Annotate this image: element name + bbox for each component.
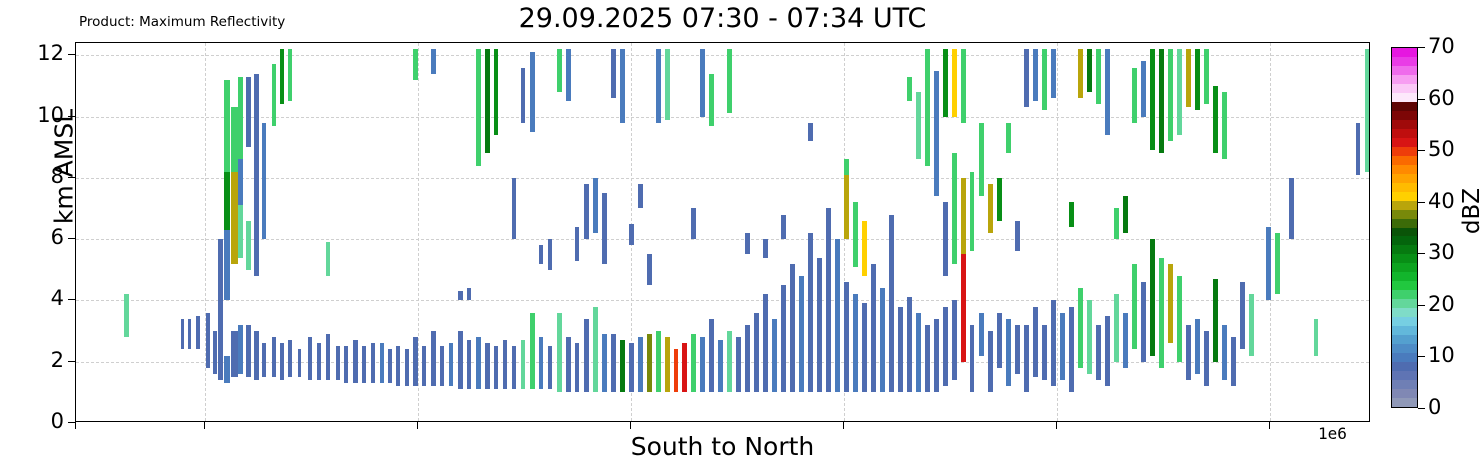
colorbar-tick-mark (1418, 253, 1425, 254)
reflectivity-segment (224, 356, 230, 384)
y-tick-mark (68, 361, 75, 362)
reflectivity-segment (1096, 325, 1101, 380)
colorbar-tick-mark (1418, 356, 1425, 357)
reflectivity-segment (871, 264, 876, 393)
reflectivity-segment (1105, 316, 1110, 386)
reflectivity-segment (548, 346, 552, 389)
colorbar-gradient (1391, 47, 1418, 408)
reflectivity-segment (1222, 325, 1227, 380)
reflectivity-segment (231, 331, 238, 377)
reflectivity-segment (503, 340, 507, 389)
reflectivity-segment (566, 337, 571, 392)
reflectivity-segment (1275, 233, 1280, 294)
reflectivity-segment (611, 49, 616, 98)
reflectivity-segment (485, 49, 490, 153)
reflectivity-segment (1132, 264, 1137, 350)
reflectivity-segment (961, 178, 966, 255)
reflectivity-segment (326, 242, 330, 276)
reflectivity-segment (853, 294, 858, 392)
reflectivity-segment (188, 319, 191, 350)
colorbar-segment (1392, 164, 1417, 174)
reflectivity-segment (620, 49, 625, 123)
reflectivity-segment (431, 331, 436, 386)
reflectivity-segment (979, 123, 984, 197)
reflectivity-segment (826, 208, 831, 392)
reflectivity-segment (548, 239, 552, 270)
colorbar-segment (1392, 236, 1417, 246)
colorbar-tick-label: 30 (1428, 242, 1455, 263)
reflectivity-segment (988, 184, 993, 233)
colorbar-tick-label: 0 (1428, 397, 1441, 418)
reflectivity-segment (557, 49, 562, 92)
reflectivity-segment (1051, 49, 1056, 98)
colorbar-segment (1392, 128, 1417, 138)
reflectivity-segment (1087, 300, 1092, 374)
reflectivity-segment (413, 337, 418, 386)
reflectivity-segment (943, 202, 948, 276)
x-axis-offset-label: 1e6 (1318, 424, 1347, 443)
reflectivity-segment (584, 319, 589, 393)
reflectivity-segment (665, 49, 670, 119)
colorbar-segment (1392, 110, 1417, 120)
reflectivity-segment (1240, 282, 1245, 349)
reflectivity-segment (262, 343, 266, 377)
reflectivity-segment (521, 340, 525, 389)
reflectivity-segment (898, 307, 903, 393)
colorbar-segment (1392, 119, 1417, 129)
reflectivity-segment (970, 325, 974, 392)
reflectivity-segment (916, 313, 921, 393)
reflectivity-segment (224, 172, 230, 230)
colorbar-segment (1392, 146, 1417, 156)
colorbar-tick-mark (1418, 202, 1425, 203)
reflectivity-segment (254, 166, 259, 276)
reflectivity-segment (629, 343, 634, 392)
reflectivity-segment (371, 343, 375, 383)
reflectivity-segment (593, 178, 598, 233)
plot-area (75, 42, 1370, 422)
reflectivity-segment (1150, 49, 1155, 150)
reflectivity-segment (494, 49, 498, 135)
colorbar-segment (1392, 191, 1417, 201)
reflectivity-segment (674, 349, 678, 392)
reflectivity-segment (254, 331, 259, 380)
reflectivity-segment (512, 178, 516, 239)
colorbar-segment (1392, 173, 1417, 183)
reflectivity-segment (844, 175, 849, 239)
reflectivity-segment (1186, 325, 1191, 380)
reflectivity-segment (1177, 49, 1182, 135)
x-tick-mark (417, 422, 418, 429)
reflectivity-segment (206, 313, 210, 368)
reflectivity-segment (629, 224, 634, 245)
colorbar-segment (1392, 245, 1417, 255)
reflectivity-segment (880, 288, 885, 392)
reflectivity-segment (988, 331, 993, 392)
reflectivity-segment (1006, 319, 1011, 386)
reflectivity-segment (272, 64, 276, 125)
colorbar-segment (1392, 101, 1417, 111)
reflectivity-segment (539, 337, 543, 389)
reflectivity-segment (124, 294, 129, 337)
y-tick-label: 2 (24, 350, 64, 371)
reflectivity-segment (727, 331, 732, 392)
reflectivity-segment (512, 346, 516, 389)
reflectivity-segment (467, 340, 471, 389)
reflectivity-segment (997, 178, 1002, 221)
colorbar-segment (1392, 254, 1417, 264)
colorbar-segment (1392, 280, 1417, 290)
x-tick-mark (204, 422, 205, 429)
colorbar-segment (1392, 74, 1417, 84)
reflectivity-segment (647, 254, 652, 285)
colorbar (1391, 47, 1418, 408)
reflectivity-segment (952, 300, 957, 380)
reflectivity-segment (1042, 325, 1047, 380)
y-tick-label: 6 (24, 227, 64, 248)
reflectivity-segment (844, 159, 849, 174)
colorbar-segment (1392, 65, 1417, 75)
reflectivity-segment (521, 68, 525, 123)
reflectivity-segment (835, 239, 840, 392)
reflectivity-segment (1078, 49, 1083, 98)
reflectivity-segment (997, 313, 1002, 368)
reflectivity-segment (745, 325, 750, 392)
colorbar-segment (1392, 92, 1417, 102)
reflectivity-segment (1033, 49, 1038, 101)
reflectivity-segment (246, 77, 251, 147)
colorbar-tick-mark (1418, 408, 1425, 409)
reflectivity-segment (1159, 49, 1164, 153)
colorbar-segment (1392, 289, 1417, 299)
reflectivity-segment (238, 159, 243, 205)
reflectivity-segment (1141, 282, 1146, 362)
reflectivity-segment (467, 288, 471, 300)
reflectivity-segment (979, 313, 984, 356)
reflectivity-segment (288, 49, 292, 101)
reflectivity-segment (1132, 68, 1137, 123)
reflectivity-segment (431, 49, 436, 74)
reflectivity-segment (262, 123, 266, 239)
colorbar-tick-mark (1418, 150, 1425, 151)
reflectivity-segment (736, 337, 741, 392)
reflectivity-segment (1114, 208, 1119, 239)
reflectivity-segment (691, 208, 696, 239)
colorbar-segment (1392, 361, 1417, 371)
colorbar-segment (1392, 343, 1417, 353)
reflectivity-segment (790, 264, 795, 393)
reflectivity-segment (298, 349, 301, 377)
reflectivity-segment (952, 153, 957, 263)
reflectivity-segment (718, 340, 723, 392)
reflectivity-segment (1204, 49, 1209, 104)
y-tick-label: 4 (24, 288, 64, 309)
colorbar-tick-label: 20 (1428, 294, 1455, 315)
reflectivity-segment (458, 291, 463, 300)
reflectivity-segment (943, 49, 948, 116)
reflectivity-segment (254, 74, 259, 166)
y-tick-label: 0 (24, 411, 64, 432)
reflectivity-segment (656, 331, 661, 392)
reflectivity-segment (1195, 319, 1200, 374)
colorbar-segment (1392, 316, 1417, 326)
reflectivity-segment (961, 49, 966, 123)
colorbar-segment (1392, 137, 1417, 147)
reflectivity-segment (485, 343, 490, 389)
reflectivity-segment (772, 319, 777, 393)
reflectivity-segment (539, 245, 543, 263)
reflectivity-segment (665, 337, 670, 392)
reflectivity-segment (934, 71, 939, 197)
reflectivity-segment (1168, 264, 1173, 344)
colorbar-segment (1392, 298, 1417, 308)
reflectivity-segment (440, 346, 444, 386)
reflectivity-segment (763, 294, 768, 392)
colorbar-tick-label: 70 (1428, 36, 1455, 57)
reflectivity-segment (1289, 178, 1294, 239)
y-tick-mark (68, 299, 75, 300)
reflectivity-segment (449, 343, 453, 386)
reflectivity-segment (952, 49, 957, 116)
colorbar-segment (1392, 47, 1417, 57)
reflectivity-segment (853, 202, 858, 266)
reflectivity-segment (280, 49, 284, 104)
colorbar-segment (1392, 388, 1417, 398)
reflectivity-segment (638, 184, 643, 209)
reflectivity-segment (925, 49, 930, 165)
reflectivity-segment (396, 346, 400, 386)
reflectivity-segment (700, 49, 705, 116)
colorbar-segment (1392, 370, 1417, 380)
x-tick-mark (1269, 422, 1270, 429)
reflectivity-segment (246, 221, 251, 270)
reflectivity-segment (1006, 123, 1011, 154)
reflectivity-segment (196, 316, 200, 350)
colorbar-segment (1392, 83, 1417, 93)
colorbar-segment (1392, 209, 1417, 219)
reflectivity-segment (889, 215, 894, 393)
reflectivity-segment (808, 123, 813, 141)
reflectivity-segment (458, 331, 463, 389)
colorbar-segment (1392, 182, 1417, 192)
reflectivity-segment (238, 205, 243, 257)
reflectivity-segment (691, 334, 696, 392)
y-tick-mark (68, 238, 75, 239)
x-tick-mark (843, 422, 844, 429)
reflectivity-segment (727, 49, 732, 113)
y-tick-mark (68, 54, 75, 55)
reflectivity-segment (1249, 294, 1254, 355)
colorbar-tick-label: 40 (1428, 191, 1455, 212)
reflectivity-segment (1096, 49, 1101, 104)
reflectivity-segment (336, 346, 340, 380)
reflectivity-segment (620, 340, 625, 392)
reflectivity-segment (476, 337, 481, 389)
colorbar-segment (1392, 272, 1417, 282)
reflectivity-segment (362, 346, 366, 383)
x-axis-label: South to North (75, 432, 1370, 461)
reflectivity-segment (181, 319, 184, 350)
reflectivity-segment (638, 337, 643, 392)
reflectivity-segment (224, 80, 230, 172)
reflectivity-segment (602, 334, 607, 392)
reflectivity-segment (817, 258, 822, 393)
reflectivity-segment (1356, 123, 1360, 175)
reflectivity-segment (1365, 49, 1369, 172)
reflectivity-segment (575, 227, 579, 261)
colorbar-segment (1392, 56, 1417, 66)
reflectivity-segment (1087, 49, 1092, 92)
reflectivity-segment (1024, 49, 1029, 107)
reflectivity-segment (1231, 337, 1236, 386)
colorbar-tick-mark (1418, 99, 1425, 100)
reflectivity-segment (1105, 49, 1110, 135)
reflectivity-segment (557, 313, 562, 393)
reflectivity-segment (709, 319, 714, 393)
reflectivity-segment (530, 52, 535, 132)
reflectivity-segment (308, 337, 312, 380)
reflectivity-segment (907, 297, 912, 392)
colorbar-tick-label: 10 (1428, 345, 1455, 366)
y-tick-label: 8 (24, 166, 64, 187)
reflectivity-segment (808, 233, 813, 392)
reflectivity-segment (530, 313, 535, 390)
reflectivity-segment (1266, 227, 1271, 301)
reflectivity-segment (925, 325, 930, 392)
colorbar-segment (1392, 263, 1417, 273)
reflectivity-segment (1150, 239, 1155, 355)
reflectivity-segment (246, 325, 251, 377)
reflectivity-segment (288, 340, 292, 377)
colorbar-segment (1392, 218, 1417, 228)
reflectivity-segment (1314, 319, 1318, 356)
reflectivity-segment (862, 303, 867, 392)
reflectivity-segment (602, 193, 607, 263)
reflectivity-segment (388, 349, 392, 383)
reflectivity-segment (647, 334, 652, 392)
reflectivity-segment (700, 337, 705, 392)
reflectivity-segment (231, 172, 238, 264)
colorbar-segment (1392, 379, 1417, 389)
reflectivity-segment (1222, 92, 1227, 159)
reflectivity-segment (1177, 276, 1182, 362)
reflectivity-segment (916, 92, 921, 159)
reflectivity-segment (422, 346, 426, 386)
reflectivity-segment (1159, 258, 1164, 368)
reflectivity-segment (1141, 61, 1146, 116)
colorbar-label: dBZ (1459, 151, 1482, 271)
reflectivity-segment (344, 346, 348, 383)
reflectivity-segment (1060, 313, 1065, 380)
reflectivity-segment (224, 230, 230, 300)
y-tick-label: 10 (24, 105, 64, 126)
reflectivity-segment (1168, 49, 1173, 141)
reflectivity-segment (934, 319, 939, 393)
reflectivity-segment (231, 107, 238, 171)
reflectivity-segment (1186, 49, 1191, 107)
colorbar-segment (1392, 200, 1417, 210)
reflectivity-segment (1123, 313, 1128, 368)
reflectivity-segment (1015, 221, 1020, 252)
reflectivity-segment (781, 215, 786, 240)
reflectivity-segment (593, 307, 598, 393)
y-tick-mark (68, 116, 75, 117)
reflectivity-segment (961, 254, 966, 361)
colorbar-tick-mark (1418, 305, 1425, 306)
product-annotation: Product: Maximum Reflectivity (79, 14, 285, 30)
reflectivity-segment (1213, 86, 1218, 153)
reflectivity-segment (1069, 202, 1074, 227)
reflectivity-segment (353, 340, 358, 383)
reflectivity-segment (326, 334, 330, 380)
reflectivity-segment (763, 239, 768, 257)
reflectivity-columns (76, 43, 1369, 421)
colorbar-segment (1392, 325, 1417, 335)
reflectivity-segment (494, 346, 498, 389)
reflectivity-segment (280, 343, 284, 380)
colorbar-segment (1392, 307, 1417, 317)
reflectivity-segment (238, 325, 243, 374)
colorbar-tick-label: 50 (1428, 139, 1455, 160)
reflectivity-segment (413, 49, 418, 80)
reflectivity-segment (862, 221, 867, 276)
reflectivity-segment (970, 172, 974, 252)
colorbar-segment (1392, 334, 1417, 344)
colorbar-segment (1392, 155, 1417, 165)
reflectivity-segment (405, 349, 409, 386)
colorbar-segment (1392, 397, 1417, 407)
y-tick-mark (68, 177, 75, 178)
reflectivity-segment (1204, 331, 1209, 386)
reflectivity-segment (1042, 49, 1047, 110)
reflectivity-segment (1114, 294, 1119, 361)
reflectivity-segment (907, 77, 912, 102)
radar-cross-section-figure: 29.09.2025 07:30 - 07:34 UTC Product: Ma… (0, 0, 1482, 470)
reflectivity-segment (656, 49, 661, 123)
reflectivity-segment (745, 233, 750, 254)
reflectivity-segment (1123, 196, 1128, 233)
reflectivity-segment (682, 343, 687, 392)
reflectivity-segment (1069, 307, 1074, 393)
reflectivity-segment (781, 285, 786, 392)
y-tick-label: 12 (24, 43, 64, 64)
reflectivity-segment (1051, 300, 1056, 386)
reflectivity-segment (1078, 288, 1083, 368)
reflectivity-segment (218, 285, 223, 380)
reflectivity-segment (1024, 325, 1029, 392)
reflectivity-segment (566, 49, 571, 101)
x-tick-mark (630, 422, 631, 429)
reflectivity-segment (317, 343, 321, 380)
reflectivity-segment (799, 276, 804, 392)
reflectivity-segment (476, 49, 481, 165)
reflectivity-segment (380, 343, 384, 383)
reflectivity-segment (1213, 279, 1218, 362)
reflectivity-segment (238, 77, 243, 160)
reflectivity-segment (218, 239, 223, 285)
reflectivity-segment (1033, 307, 1038, 377)
colorbar-tick-mark (1418, 47, 1425, 48)
x-tick-mark (1056, 422, 1057, 429)
reflectivity-segment (754, 313, 759, 393)
reflectivity-segment (611, 334, 616, 392)
reflectivity-segment (584, 184, 589, 239)
reflectivity-segment (1015, 325, 1020, 374)
y-tick-mark (68, 422, 75, 423)
colorbar-segment (1392, 352, 1417, 362)
reflectivity-segment (943, 307, 948, 387)
reflectivity-segment (213, 331, 217, 374)
